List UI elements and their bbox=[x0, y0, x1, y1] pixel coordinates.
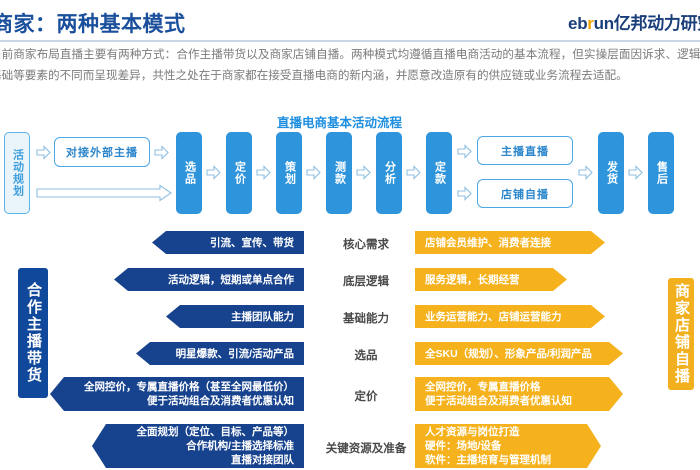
flow-node-live-store[interactable]: 店铺自播 bbox=[477, 179, 573, 208]
flow-node-step-3[interactable]: 测款 bbox=[326, 132, 352, 214]
flow-arrow-icon bbox=[578, 165, 593, 180]
flow-arrow-icon bbox=[256, 165, 271, 180]
right-chevron-row-3[interactable]: 全SKU（规划）、形象产品/利润产品 bbox=[415, 342, 623, 365]
mid-label-row-1: 底层逻辑 bbox=[318, 273, 414, 289]
right-chevron-row-5[interactable]: 人才资源与岗位打造 硬件：场地/设备 软件：主播培育与管理机制 bbox=[415, 424, 601, 468]
side-label-store-self-text: 商家店铺自播 bbox=[671, 283, 691, 385]
left-chevron-row-4[interactable]: 全网控价，专属直播价格（甚至全网最低价） 便于活动组合及消费者优惠认知 bbox=[50, 377, 304, 411]
right-chevron-row-2[interactable]: 业务运营能力、店铺运营能力 bbox=[415, 305, 605, 328]
mid-label-row-0: 核心需求 bbox=[318, 236, 414, 252]
flow-diagram: 活动规划 对接外部主播 选品 定价 bbox=[0, 132, 700, 214]
right-chevron-row-1[interactable]: 服务逻辑，长期经营 bbox=[415, 268, 567, 291]
flow-node-tail-0[interactable]: 发货 bbox=[598, 132, 624, 214]
flow-long-arrow-icon bbox=[36, 184, 172, 202]
mid-label-row-4: 定价 bbox=[318, 388, 414, 404]
right-chevron-row-5-line-1: 硬件：场地/设备 bbox=[425, 439, 581, 453]
flow-node-tail-1[interactable]: 售后 bbox=[648, 132, 674, 214]
left-chevron-row-0-line-0: 引流、宣传、带货 bbox=[172, 236, 294, 250]
left-chevron-row-3[interactable]: 明星爆款、引流/活动产品 bbox=[136, 342, 304, 365]
flow-node-step-3-label: 测款 bbox=[333, 161, 346, 185]
flow-node-start-label: 活动规划 bbox=[11, 149, 24, 197]
flow-node-step-5-label: 定款 bbox=[433, 161, 446, 185]
side-label-store-self: 商家店铺自播 bbox=[668, 278, 694, 390]
right-chevron-row-5-line-2: 软件：主播培育与管理机制 bbox=[425, 453, 581, 467]
flow-arrow-icon bbox=[36, 145, 51, 160]
left-chevron-row-2-line-0: 主播团队能力 bbox=[186, 310, 294, 324]
flow-node-external-host-label: 对接外部主播 bbox=[66, 144, 138, 160]
left-chevron-row-5-line-2: 直播对接团队 bbox=[112, 453, 294, 467]
left-chevron-row-1-line-0: 活动逻辑，短期或单点合作 bbox=[134, 273, 294, 287]
left-chevron-row-5-lines: 全面规划（定位、目标、产品等） 合作机构/主播选择标准 直播对接团队 bbox=[112, 425, 294, 467]
right-chevron-row-4-line-1: 便于活动组合及消费者优惠认知 bbox=[425, 394, 603, 408]
flow-arrow-icon bbox=[628, 165, 643, 180]
page-title: 商家：两种基本模式 bbox=[0, 8, 186, 38]
right-chevron-row-1-line-0: 服务逻辑，长期经营 bbox=[425, 273, 547, 287]
flow-arrow-icon bbox=[356, 165, 371, 180]
left-chevron-row-4-line-0: 全网控价，专属直播价格（甚至全网最低价） bbox=[70, 380, 294, 394]
mid-label-row-2: 基础能力 bbox=[318, 310, 414, 326]
right-chevron-row-5-line-0: 人才资源与岗位打造 bbox=[425, 425, 581, 439]
flow-node-tail-1-label: 售后 bbox=[655, 161, 668, 185]
left-chevron-row-5-line-1: 合作机构/主播选择标准 bbox=[112, 439, 294, 453]
logo-text-part1: eb bbox=[568, 14, 587, 33]
flow-arrow-icon bbox=[457, 186, 472, 201]
left-chevron-row-4-lines: 全网控价，专属直播价格（甚至全网最低价） 便于活动组合及消费者优惠认知 bbox=[70, 380, 294, 408]
right-chevron-row-4[interactable]: 全网控价，专属直播价格 便于活动组合及消费者优惠认知 bbox=[415, 377, 623, 411]
flow-node-live-host[interactable]: 主播直播 bbox=[477, 136, 573, 165]
side-label-cooperative-host: 合作主播带货 bbox=[18, 268, 48, 398]
flow-arrow-icon bbox=[154, 145, 169, 160]
flow-section-title: 直播电商基本活动流程 bbox=[277, 112, 402, 131]
right-chevron-row-4-line-0: 全网控价，专属直播价格 bbox=[425, 380, 603, 394]
flow-node-start[interactable]: 活动规划 bbox=[4, 132, 30, 214]
left-chevron-row-5-line-0: 全面规划（定位、目标、产品等） bbox=[112, 425, 294, 439]
flow-arrow-icon bbox=[406, 165, 421, 180]
flow-node-step-5[interactable]: 定款 bbox=[426, 132, 452, 214]
mid-label-row-3: 选品 bbox=[318, 347, 414, 363]
right-chevron-row-5-lines: 人才资源与岗位打造 硬件：场地/设备 软件：主播培育与管理机制 bbox=[425, 425, 581, 467]
mid-label-row-5: 关键资源及准备 bbox=[306, 440, 426, 456]
right-chevron-row-0[interactable]: 店铺会员维护、消费者连接 bbox=[415, 231, 605, 254]
flow-node-step-4-label: 分析 bbox=[383, 161, 396, 185]
left-chevron-row-5[interactable]: 全面规划（定位、目标、产品等） 合作机构/主播选择标准 直播对接团队 bbox=[92, 424, 304, 468]
flow-node-step-0[interactable]: 选品 bbox=[176, 132, 202, 214]
right-chevron-row-0-line-0: 店铺会员维护、消费者连接 bbox=[425, 236, 585, 250]
logo-text-part2: un亿邦动力研究 bbox=[594, 14, 700, 33]
flow-node-tail-0-label: 发货 bbox=[605, 161, 618, 185]
left-chevron-row-1[interactable]: 活动逻辑，短期或单点合作 bbox=[114, 268, 304, 291]
flow-node-step-2-label: 策划 bbox=[283, 161, 296, 185]
left-chevron-row-0[interactable]: 引流、宣传、带货 bbox=[152, 231, 304, 254]
flow-node-step-1[interactable]: 定价 bbox=[226, 132, 252, 214]
slide-header: 商家：两种基本模式 ebrun亿邦动力研究 bbox=[0, 0, 700, 40]
flow-arrow-icon bbox=[457, 144, 472, 159]
left-chevron-row-3-line-0: 明星爆款、引流/活动产品 bbox=[156, 347, 294, 361]
right-chevron-row-4-lines: 全网控价，专属直播价格 便于活动组合及消费者优惠认知 bbox=[425, 380, 603, 408]
flow-node-step-2[interactable]: 策划 bbox=[276, 132, 302, 214]
slide-root: 商家：两种基本模式 ebrun亿邦动力研究 当前商家布局直播主要有两种方式：合作… bbox=[0, 0, 700, 470]
flow-arrow-icon bbox=[306, 165, 321, 180]
header-divider bbox=[0, 40, 700, 42]
flow-node-step-0-label: 选品 bbox=[183, 161, 196, 185]
left-chevron-row-4-line-1: 便于活动组合及消费者优惠认知 bbox=[70, 394, 294, 408]
flow-node-live-store-label: 店铺自播 bbox=[501, 186, 549, 202]
side-label-cooperative-host-text: 合作主播带货 bbox=[23, 282, 43, 384]
right-chevron-row-3-line-0: 全SKU（规划）、形象产品/利润产品 bbox=[425, 347, 603, 361]
flow-arrow-icon bbox=[206, 165, 221, 180]
flow-node-live-host-label: 主播直播 bbox=[501, 143, 549, 159]
right-chevron-row-2-line-0: 业务运营能力、店铺运营能力 bbox=[425, 310, 585, 324]
intro-paragraph: 当前商家布局直播主要有两种方式：合作主播带货以及商家店铺自播。两种模式均遵循直播… bbox=[0, 44, 700, 86]
brand-logo: ebrun亿邦动力研究 bbox=[568, 9, 700, 34]
left-chevron-row-2[interactable]: 主播团队能力 bbox=[166, 305, 304, 328]
flow-node-step-4[interactable]: 分析 bbox=[376, 132, 402, 214]
flow-node-external-host[interactable]: 对接外部主播 bbox=[54, 137, 150, 167]
flow-node-step-1-label: 定价 bbox=[233, 161, 246, 185]
